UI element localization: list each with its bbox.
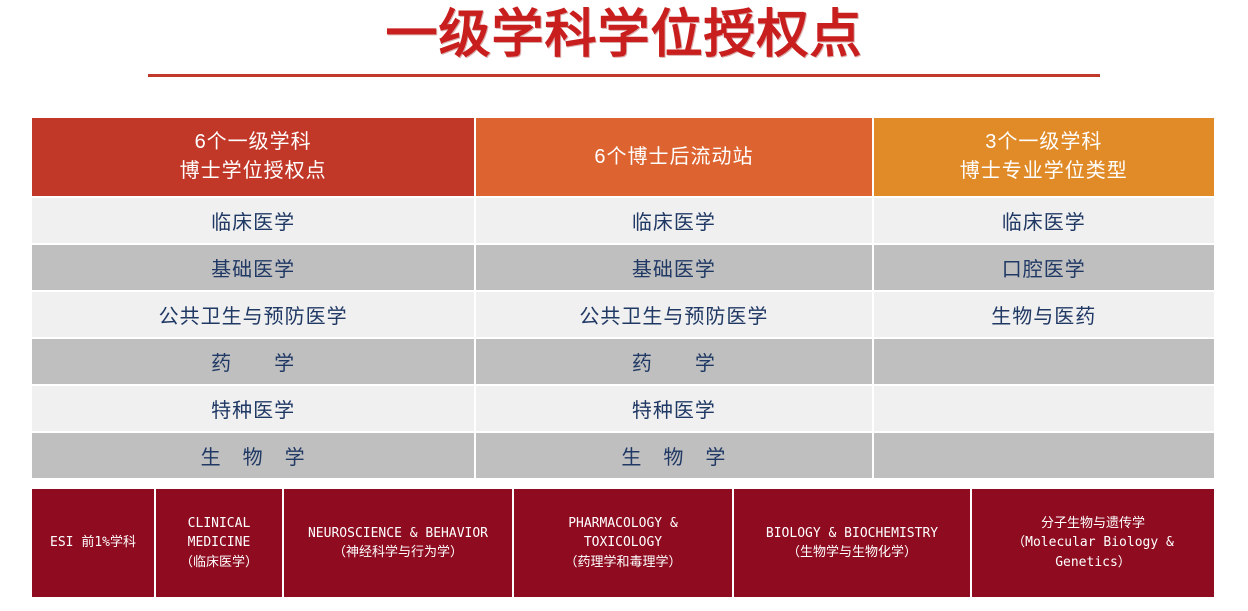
matrix-cell: 生物与医药: [874, 292, 1214, 337]
title-divider: [148, 74, 1100, 77]
header-line-2: 博士学位授权点: [180, 157, 327, 186]
esi-discipline-text: CLINICAL MEDICINE （临床医学）: [180, 514, 258, 573]
esi-zh-line: （临床医学）: [180, 553, 258, 573]
matrix-cell: 药 学: [32, 339, 474, 384]
esi-en-line-2: Genetics）: [1012, 553, 1174, 573]
esi-discipline-pharmacology-toxicology: PHARMACOLOGY & TOXICOLOGY （药理学和毒理学）: [514, 489, 734, 597]
matrix-cell: 特种医学: [32, 386, 474, 431]
esi-en-line-2: MEDICINE: [180, 533, 258, 553]
matrix-cell: [874, 339, 1214, 384]
degree-matrix-table: 6个一级学科 博士学位授权点 6个博士后流动站 3个一级学科 博士专业学位类型 …: [32, 118, 1214, 480]
header-line-1: 6个一级学科: [195, 128, 312, 157]
matrix-cell: 药 学: [476, 339, 871, 384]
matrix-cell: [874, 433, 1214, 478]
matrix-cell: 公共卫生与预防医学: [476, 292, 871, 337]
esi-discipline-text: BIOLOGY & BIOCHEMISTRY （生物学与生物化学）: [766, 524, 938, 563]
esi-discipline-clinical-medicine: CLINICAL MEDICINE （临床医学）: [156, 489, 284, 597]
esi-discipline-molecular-biology-genetics: 分子生物与遗传学 （Molecular Biology & Genetics）: [972, 489, 1214, 597]
table-row: 药 学 药 学: [32, 339, 1214, 384]
esi-top-1-percent-bar: ESI 前1%学科 CLINICAL MEDICINE （临床医学） NEURO…: [32, 489, 1214, 597]
matrix-cell: [874, 386, 1214, 431]
esi-en-line-1: （Molecular Biology &: [1012, 533, 1174, 553]
page-title: 一级学科学位授权点: [0, 6, 1248, 66]
esi-discipline-biology-biochemistry: BIOLOGY & BIOCHEMISTRY （生物学与生物化学）: [734, 489, 972, 597]
matrix-cell: 临床医学: [874, 198, 1214, 243]
matrix-cell: 基础医学: [32, 245, 474, 290]
table-row: 特种医学 特种医学: [32, 386, 1214, 431]
matrix-header-professional-doctoral: 3个一级学科 博士专业学位类型: [874, 118, 1214, 196]
esi-discipline-text: 分子生物与遗传学 （Molecular Biology & Genetics）: [1012, 514, 1174, 573]
esi-en-line-1: CLINICAL: [180, 514, 258, 534]
table-row: 公共卫生与预防医学 公共卫生与预防医学 生物与医药: [32, 292, 1214, 337]
matrix-cell: 临床医学: [476, 198, 871, 243]
esi-en-line-1: NEUROSCIENCE & BEHAVIOR: [308, 524, 488, 544]
esi-en-line-1: BIOLOGY & BIOCHEMISTRY: [766, 524, 938, 544]
matrix-cell-text: 生 物 学: [621, 441, 726, 470]
table-row: 基础医学 基础医学 口腔医学: [32, 245, 1214, 290]
table-row: 临床医学 临床医学 临床医学: [32, 198, 1214, 243]
esi-bar-label: ESI 前1%学科: [32, 489, 156, 597]
esi-zh-line: （生物学与生物化学）: [766, 543, 938, 563]
header-line-1: 6个博士后流动站: [594, 143, 753, 172]
matrix-header-postdoc-stations: 6个博士后流动站: [476, 118, 871, 196]
esi-discipline-neuroscience-behavior: NEUROSCIENCE & BEHAVIOR （神经科学与行为学）: [284, 489, 514, 597]
esi-discipline-text: NEUROSCIENCE & BEHAVIOR （神经科学与行为学）: [308, 524, 488, 563]
matrix-cell: 公共卫生与预防医学: [32, 292, 474, 337]
matrix-cell-text: 药 学: [211, 347, 295, 376]
matrix-header-row: 6个一级学科 博士学位授权点 6个博士后流动站 3个一级学科 博士专业学位类型: [32, 118, 1214, 196]
matrix-cell: 生 物 学: [32, 433, 474, 478]
esi-zh-line: （药理学和毒理学）: [564, 553, 681, 573]
title-section: 一级学科学位授权点: [0, 0, 1248, 77]
matrix-cell: 口腔医学: [874, 245, 1214, 290]
header-line-1: 3个一级学科: [985, 128, 1102, 157]
esi-en-line-2: TOXICOLOGY: [564, 533, 681, 553]
matrix-cell: 基础医学: [476, 245, 871, 290]
esi-zh-line: （神经科学与行为学）: [308, 543, 488, 563]
header-line-2: 博士专业学位类型: [960, 157, 1128, 186]
matrix-cell-text: 生 物 学: [201, 441, 306, 470]
matrix-cell: 临床医学: [32, 198, 474, 243]
table-row: 生 物 学 生 物 学: [32, 433, 1214, 478]
matrix-header-doctoral-first-level: 6个一级学科 博士学位授权点: [32, 118, 474, 196]
esi-zh-line: 分子生物与遗传学: [1012, 514, 1174, 534]
esi-en-line-1: PHARMACOLOGY &: [564, 514, 681, 534]
matrix-cell: 特种医学: [476, 386, 871, 431]
matrix-cell-text: 药 学: [632, 347, 716, 376]
esi-discipline-text: PHARMACOLOGY & TOXICOLOGY （药理学和毒理学）: [564, 514, 681, 573]
matrix-cell: 生 物 学: [476, 433, 871, 478]
